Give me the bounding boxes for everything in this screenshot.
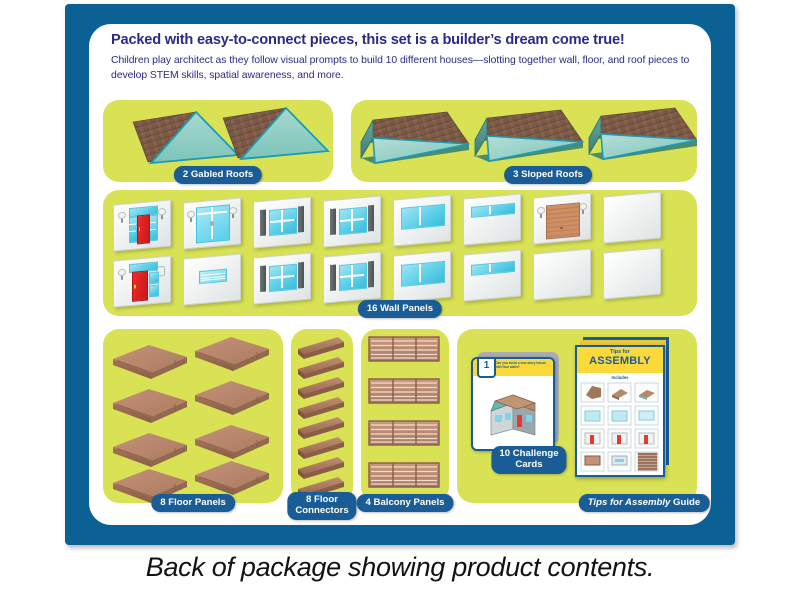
section-floor-panels (103, 329, 283, 503)
section-floor-connectors (291, 329, 353, 503)
wall-panel-window-wide-b (393, 250, 451, 302)
wall-panel-garage-door (533, 192, 591, 244)
challenge-card-question: Can you build a one-story house with fou… (495, 361, 550, 370)
badge-challenge-cards: 10 Challenge Cards (491, 446, 566, 474)
badge-floor-panels: 8 Floor Panels (151, 494, 235, 512)
badge-gabled-roofs: 2 Gabled Roofs (174, 166, 262, 184)
section-wall-panels (103, 190, 697, 316)
badge-wall-panels: 16 Wall Panels (358, 300, 442, 318)
badge-challenge-cards-line2: Cards (515, 459, 542, 470)
figure-caption: Back of package showing product contents… (0, 552, 800, 583)
balcony-panels-art (361, 329, 449, 503)
wall-panel-window-wide-a (393, 194, 451, 246)
package-frame: Packed with easy-to-connect pieces, this… (65, 4, 735, 545)
assembly-guide-booklet: Tips for ASSEMBLY Includes (573, 339, 685, 479)
challenge-card-stack: Can you build a one-story house with fou… (469, 355, 569, 453)
wall-panel-window-shutters-d (323, 251, 381, 303)
assembly-guide-title-large: ASSEMBLY (577, 355, 663, 367)
screenshot-root: Packed with easy-to-connect pieces, this… (0, 0, 800, 600)
wall-panel-blank-a (603, 191, 661, 243)
section-balcony-panels (361, 329, 449, 503)
badge-floor-connectors: 8 Floor Connectors (287, 492, 356, 520)
wall-panel-transom-b (463, 249, 521, 301)
floor-panels-art (103, 329, 283, 503)
badge-assembly-guide: Tips for Assembly Guide (579, 494, 710, 512)
section-cards-and-guide: Can you build a one-story house with fou… (457, 329, 697, 503)
wall-panel-door-red-a (113, 199, 171, 251)
wall-panel-vent (183, 253, 241, 305)
package-inner-panel: Packed with easy-to-connect pieces, this… (89, 24, 711, 525)
wall-panel-blank-c (603, 247, 661, 299)
challenge-card-number: 1 (477, 357, 496, 378)
wall-panel-transom-a (463, 193, 521, 245)
challenge-card-front: Can you build a one-story house with fou… (471, 357, 555, 451)
assembly-guide-page: Tips for ASSEMBLY Includes (575, 345, 665, 477)
headline: Packed with easy-to-connect pieces, this… (111, 32, 695, 49)
badge-assembly-guide-italic: Tips for Assembly (588, 497, 671, 508)
wall-panel-blank-b (533, 248, 591, 300)
badge-floor-connectors-line1: 8 Floor (306, 494, 338, 505)
wall-panel-glass-doors (183, 197, 241, 249)
assembly-guide-includes-label: Includes (577, 375, 663, 380)
challenge-card-house-art (473, 381, 553, 443)
subheadline: Children play architect as they follow v… (111, 54, 697, 84)
wall-panel-door-red-b (113, 255, 171, 307)
wall-panel-window-shutters-a (253, 196, 311, 248)
badge-assembly-guide-rest: Guide (670, 497, 700, 508)
wall-panel-window-shutters-b (323, 195, 381, 247)
badge-floor-connectors-line2: Connectors (295, 505, 348, 516)
assembly-guide-thumbnails (577, 381, 663, 477)
floor-connectors-art (291, 329, 353, 503)
badge-balcony-panels: 4 Balcony Panels (357, 494, 454, 512)
badge-sloped-roofs: 3 Sloped Roofs (504, 166, 592, 184)
badge-challenge-cards-line1: 10 Challenge (499, 448, 558, 459)
wall-panel-window-shutters-c (253, 252, 311, 304)
